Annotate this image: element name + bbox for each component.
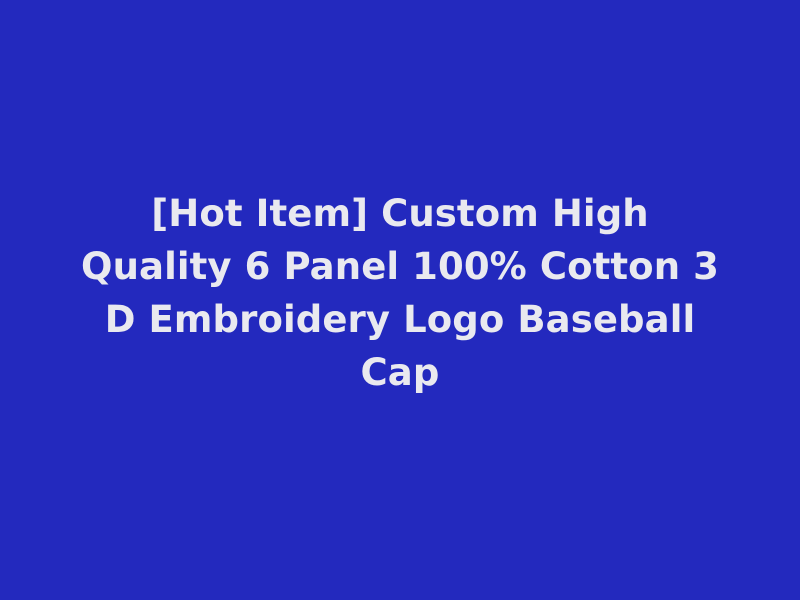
product-title-block: [Hot Item] Custom High Quality 6 Panel 1… <box>70 187 730 399</box>
product-title: [Hot Item] Custom High Quality 6 Panel 1… <box>70 187 730 399</box>
placeholder-image-canvas: [Hot Item] Custom High Quality 6 Panel 1… <box>0 0 800 600</box>
